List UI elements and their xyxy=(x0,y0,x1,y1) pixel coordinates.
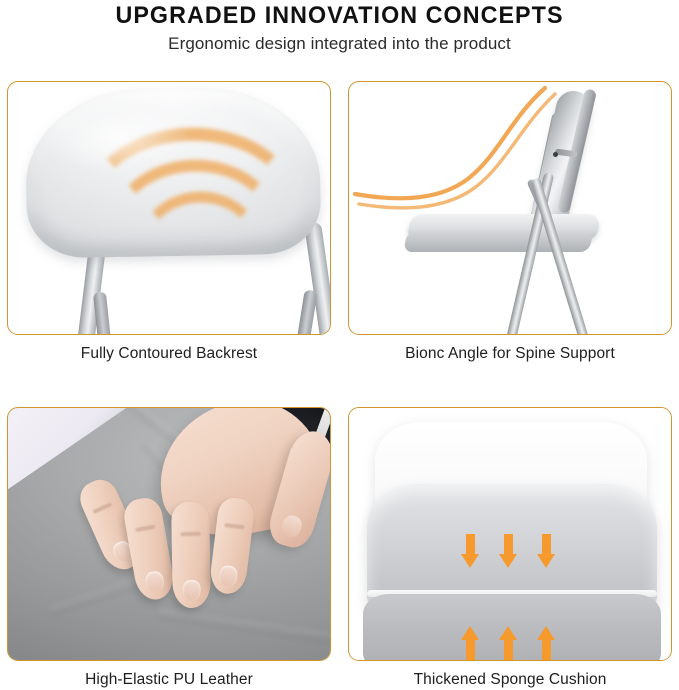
feature-cell-spine-support: Bionc Angle for Spine Support xyxy=(348,81,672,364)
feature-card-contoured-backrest[interactable] xyxy=(7,81,331,335)
arrow-shaft xyxy=(466,640,475,660)
pu-leather-illustration xyxy=(8,408,330,660)
thumb-nail xyxy=(280,513,304,539)
finger-knuckle xyxy=(181,532,201,536)
chair-hinge-dot xyxy=(553,152,558,157)
cushion-illustration xyxy=(349,408,671,660)
compression-arrow-down-icon xyxy=(499,534,518,568)
feature-caption-contoured-backrest: Fully Contoured Backrest xyxy=(7,335,331,364)
chair-seat-skirt xyxy=(403,234,593,252)
side-view-illustration xyxy=(349,82,671,334)
spine-curve-icon xyxy=(349,82,672,335)
feature-cell-contoured-backrest: Fully Contoured Backrest xyxy=(7,81,331,364)
rebound-arrow-up-icon xyxy=(537,626,556,660)
feature-cell-pu-leather: High-Elastic PU Leather xyxy=(7,407,331,690)
arrow-head xyxy=(499,554,517,568)
arrow-head xyxy=(537,554,555,568)
feature-grid: Fully Contoured Backrest xyxy=(7,81,672,690)
rebound-arrow-up-icon xyxy=(461,626,480,660)
backrest-leg-lower-left xyxy=(93,291,112,335)
feature-row-bottom: High-Elastic PU Leather xyxy=(7,407,672,690)
feature-card-pu-leather[interactable] xyxy=(7,407,331,661)
compression-arrow-down-icon xyxy=(461,534,480,568)
page-title: UPGRADED INNOVATION CONCEPTS xyxy=(10,2,669,30)
page-subtitle: Ergonomic design integrated into the pro… xyxy=(0,32,679,56)
backrest-illustration xyxy=(8,82,330,334)
feature-cell-sponge-cushion: Thickened Sponge Cushion xyxy=(348,407,672,690)
feature-caption-spine-support: Bionc Angle for Spine Support xyxy=(348,335,672,364)
arrow-shaft xyxy=(504,534,513,554)
contour-arc-inner xyxy=(136,190,264,307)
arrow-shaft xyxy=(542,640,551,660)
arrow-head xyxy=(461,554,479,568)
finger-knuckle xyxy=(135,525,155,532)
backrest-leg-lower-right xyxy=(295,289,317,335)
finger-nail xyxy=(144,570,165,594)
rebound-arrow-up-icon xyxy=(499,626,518,660)
feature-caption-pu-leather: High-Elastic PU Leather xyxy=(7,661,331,690)
finger-nail xyxy=(218,565,238,588)
finger-knuckle xyxy=(92,502,112,514)
hand-pressing xyxy=(94,407,330,616)
feature-card-spine-support[interactable] xyxy=(348,81,672,335)
feature-card-sponge-cushion[interactable] xyxy=(348,407,672,661)
arrow-shaft xyxy=(542,534,551,554)
finger-knuckle xyxy=(224,523,244,529)
feature-row-top: Fully Contoured Backrest xyxy=(7,81,672,364)
arrow-head xyxy=(537,626,555,640)
page-header: UPGRADED INNOVATION CONCEPTS Ergonomic d… xyxy=(0,0,679,56)
backrest-pad xyxy=(25,85,322,258)
finger-nail xyxy=(182,580,200,601)
feature-caption-sponge-cushion: Thickened Sponge Cushion xyxy=(348,661,672,690)
hand-finger-ring xyxy=(171,502,211,609)
arrow-shaft xyxy=(466,534,475,554)
arrow-shaft xyxy=(504,640,513,660)
row-spacer xyxy=(7,364,672,407)
compression-arrow-down-icon xyxy=(537,534,556,568)
arrow-head xyxy=(461,626,479,640)
arrow-head xyxy=(499,626,517,640)
